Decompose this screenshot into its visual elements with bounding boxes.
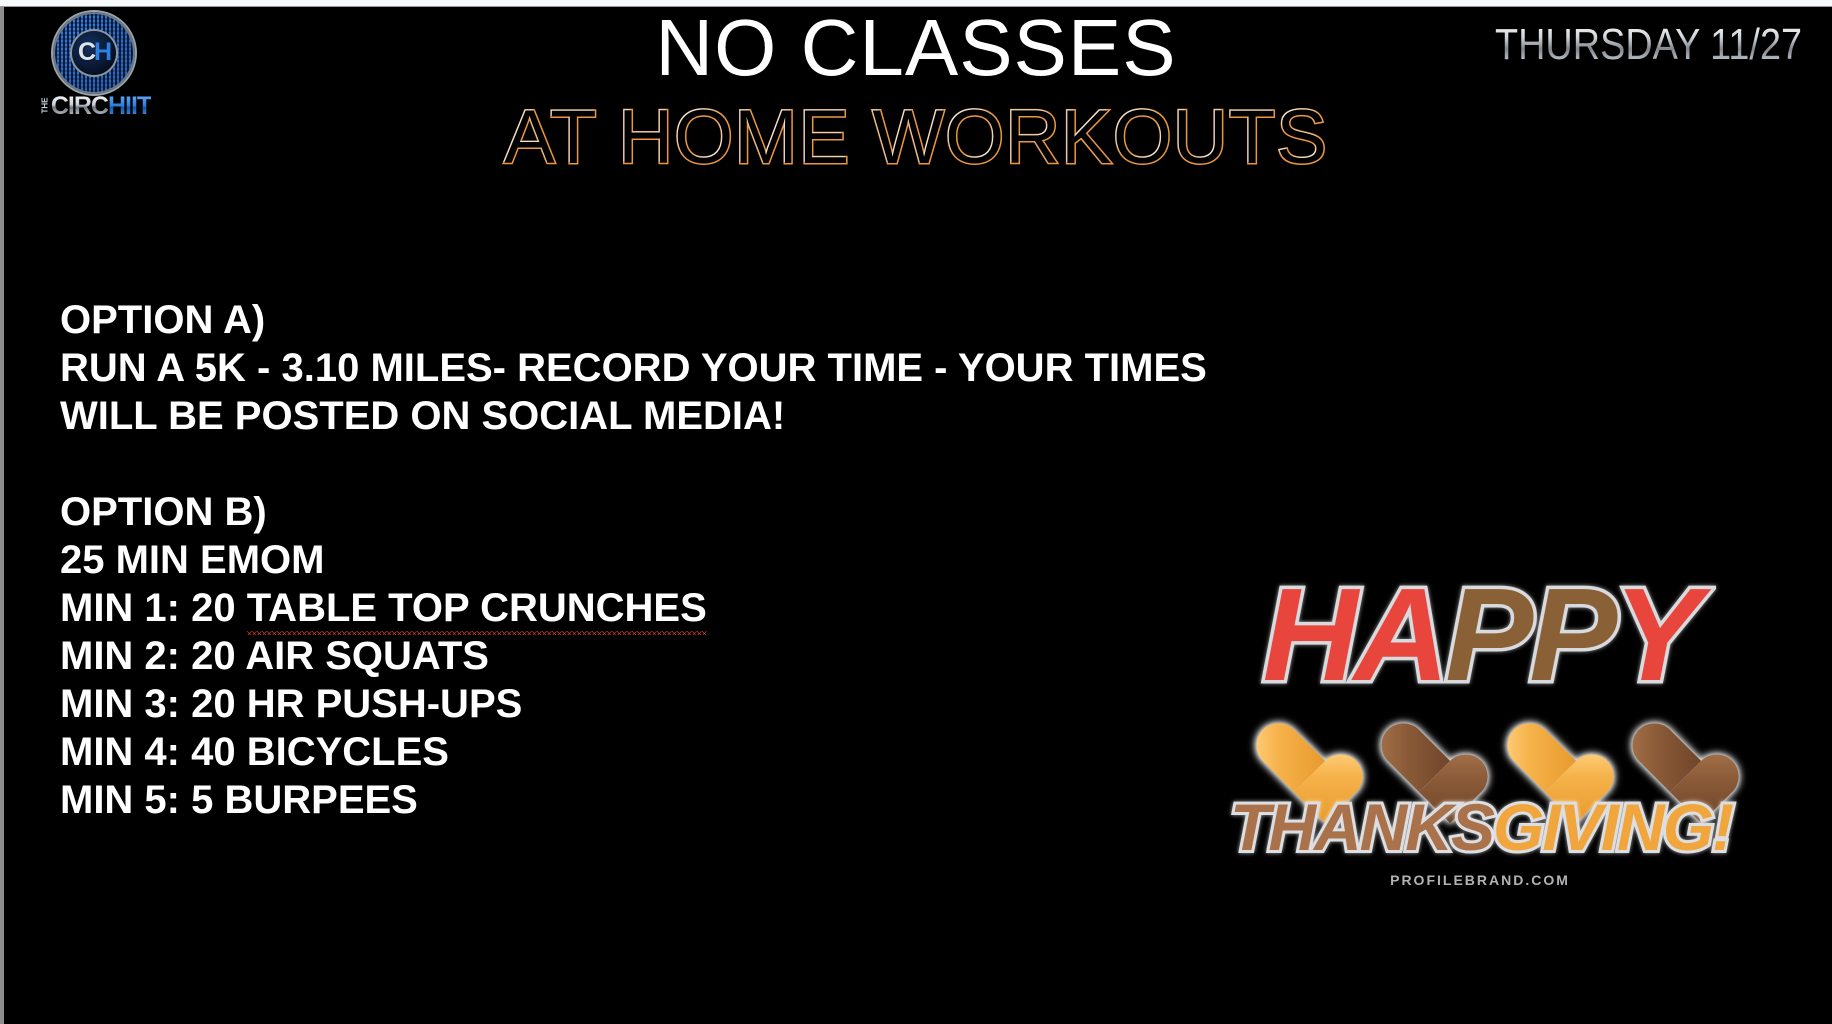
heart-icon (1377, 720, 1461, 796)
emom-minute-2-movement: AIR SQUATS (245, 634, 489, 678)
emom-minute-1-prefix: MIN 1: 20 (60, 586, 247, 630)
emom-minute-2: MIN 2: 20 AIR SQUATS (60, 632, 1210, 680)
happy-wordmark: HAPPY (1230, 560, 1730, 710)
emom-minute-2-prefix: MIN 2: 20 (60, 634, 245, 678)
thanksgiving-letters-giving: GIVING! (1493, 790, 1732, 864)
option-b-heading: OPTION B) (60, 488, 1210, 536)
logo-monogram: CH (72, 37, 116, 67)
option-a-text: RUN A 5K - 3.10 MILES- RECORD YOUR TIME … (60, 344, 1210, 440)
emom-minute-1-movement: TABLE TOP CRUNCHES (247, 584, 707, 632)
slide-date: THURSDAY 11/27 (1495, 20, 1802, 70)
emom-minute-5-movement: BURPEES (224, 778, 417, 822)
heart-icon (1628, 720, 1712, 796)
option-b-format: 25 MIN EMOM (60, 536, 1210, 584)
emom-minute-5-prefix: MIN 5: 5 (60, 778, 224, 822)
emom-minute-4-movement: BICYCLES (247, 730, 449, 774)
thanksgiving-wordmark: THANKSGIVING! (1230, 788, 1730, 866)
emom-minute-3-prefix: MIN 3: 20 (60, 682, 247, 726)
emom-minute-1: MIN 1: 20 TABLE TOP CRUNCHES (60, 584, 1210, 632)
emom-minute-4: MIN 4: 40 BICYCLES (60, 728, 1210, 776)
option-a-heading: OPTION A) (60, 296, 1210, 344)
thanksgiving-letters-thanks: THANKS (1230, 790, 1493, 864)
heart-icon (1503, 720, 1587, 796)
body-spacer (60, 440, 1210, 488)
graphic-watermark: PROFILEBRAND.COM (1230, 872, 1730, 888)
happy-letters-y: Y (1613, 561, 1697, 708)
happy-letters-ha: HA (1263, 561, 1446, 708)
heart-icon (1252, 720, 1336, 796)
presentation-slide: CH THECIRCHIIT NO CLASSES AT HOME WORKOU… (0, 0, 1832, 1024)
workout-body: OPTION A) RUN A 5K - 3.10 MILES- RECORD … (60, 296, 1210, 824)
slide-subtitle: AT HOME WORKOUTS (0, 96, 1832, 180)
emom-minute-3: MIN 3: 20 HR PUSH-UPS (60, 680, 1210, 728)
emom-minute-5: MIN 5: 5 BURPEES (60, 776, 1210, 824)
emom-minute-3-movement: HR PUSH-UPS (247, 682, 523, 726)
emom-minute-4-prefix: MIN 4: 40 (60, 730, 247, 774)
happy-letters-pp: PP (1445, 561, 1613, 708)
happy-thanksgiving-graphic: HAPPY THANKSGIVING! PROFILEBRAND.COM (1230, 560, 1730, 1000)
